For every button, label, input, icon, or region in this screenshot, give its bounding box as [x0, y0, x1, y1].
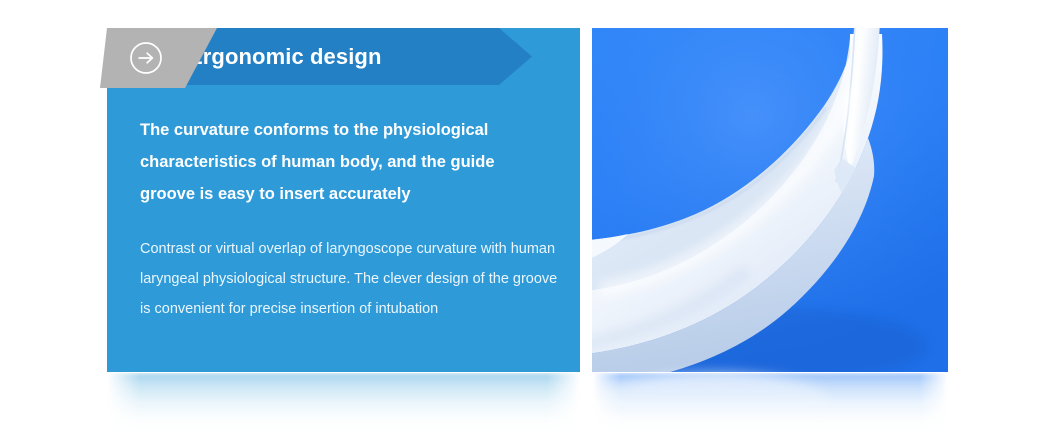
laryngoscope-blade-photo — [592, 28, 948, 372]
right-panel-reflection-highlight — [600, 373, 830, 413]
left-panel-reflection — [107, 373, 580, 431]
icon-tab-shoulder — [100, 28, 112, 88]
description-paragraph: Contrast or virtual overlap of laryngosc… — [140, 234, 564, 324]
text-panel: Ergonomic design The curvature conforms … — [107, 28, 580, 372]
feature-card: Ergonomic design The curvature conforms … — [0, 0, 1060, 432]
right-panel-reflection — [592, 373, 948, 431]
product-image-panel — [592, 28, 948, 372]
banner-title: Ergonomic design — [188, 28, 382, 85]
arrow-right-circle-icon — [129, 41, 163, 75]
headline: The curvature conforms to the physiologi… — [140, 114, 552, 210]
